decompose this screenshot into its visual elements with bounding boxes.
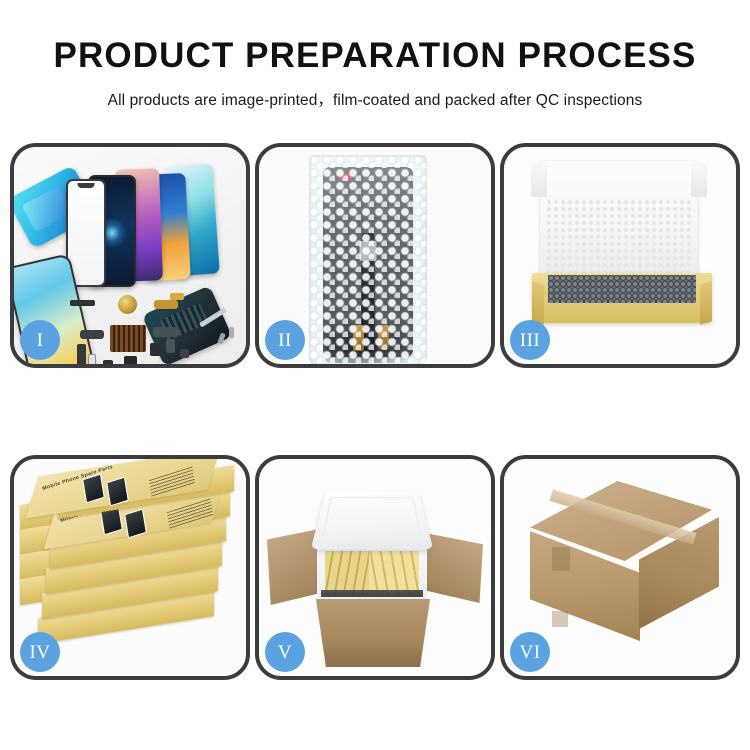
bubble-texture-overlay [309, 155, 427, 367]
step-badge-1: I [20, 320, 60, 360]
process-step-2: II [255, 143, 495, 368]
foam-shadow-gap-graphic [321, 590, 423, 597]
speaker-part-graphic [70, 300, 95, 306]
box-left-lip-graphic [532, 281, 544, 324]
gold-connector-part-graphic-2 [170, 293, 184, 300]
box-right-lip-graphic [700, 281, 712, 324]
carton-right-flap-graphic [425, 533, 483, 603]
flex-cable-part-graphic-1 [80, 330, 104, 339]
step-badge-5: V [265, 632, 305, 672]
yellow-boxes-inside-graphic [325, 551, 419, 595]
header: PRODUCT PREPARATION PROCESS All products… [0, 0, 750, 110]
flex-cable-part-graphic-2 [77, 344, 86, 368]
process-step-1: I [10, 143, 250, 368]
process-step-6: VI [500, 455, 740, 680]
step-badge-4: IV [20, 632, 60, 672]
grey-foam-insert-graphic [548, 275, 696, 303]
yellow-box-tray-graphic [532, 273, 712, 323]
product-preparation-infographic: PRODUCT PREPARATION PROCESS All products… [0, 0, 750, 750]
step-badge-3: III [510, 320, 550, 360]
sim-tray-part-graphic [88, 354, 96, 368]
mesh-grid-part-graphic [110, 325, 146, 352]
foam-texture-overlay [546, 199, 692, 279]
screw-graphic-1 [229, 327, 234, 338]
process-step-4: Mobile Phone Spare Parts Mobile Phone Sp… [10, 455, 250, 680]
gold-connector-part-graphic-1 [154, 300, 178, 309]
flex-cable-part-graphic-3 [153, 327, 179, 337]
foam-box-lid-graphic [311, 492, 434, 549]
white-foam-lid-graphic [540, 161, 698, 283]
carton-handle-tab-graphic-1 [552, 547, 570, 571]
process-step-3: III [500, 143, 740, 368]
copper-coil-part-graphic [118, 295, 137, 314]
small-part-graphic-2 [166, 339, 175, 353]
process-step-5: V [255, 455, 495, 680]
small-part-graphic-3 [124, 356, 137, 367]
small-part-graphic-4 [103, 360, 113, 368]
process-step-grid: I II [10, 143, 740, 680]
step-badge-2: II [265, 320, 305, 360]
step-badge-6: VI [510, 632, 550, 672]
page-subtitle: All products are image-printed，film-coat… [0, 73, 750, 110]
bubble-wrap-bag-graphic [309, 155, 427, 367]
small-part-graphic-1 [150, 343, 161, 356]
carton-body-graphic [311, 599, 435, 667]
page-title: PRODUCT PREPARATION PROCESS [0, 0, 750, 73]
small-part-graphic-5 [180, 349, 189, 358]
carton-handle-tab-graphic-2 [552, 611, 568, 627]
